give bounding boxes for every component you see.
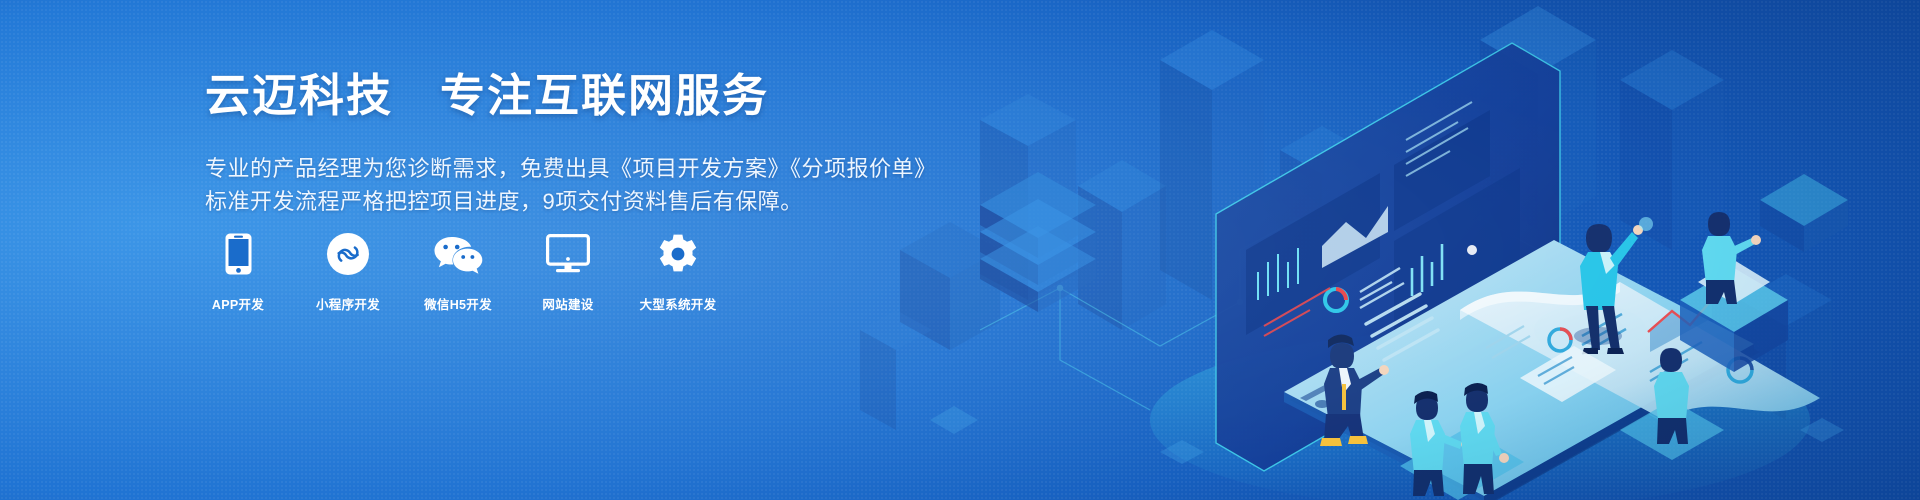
service-item-app[interactable]: APP开发: [203, 232, 273, 313]
service-label: 网站建设: [542, 294, 593, 313]
banner-subtitle: 专业的产品经理为您诊断需求，免费出具《项目开发方案》《分项报价单》 标准开发流程…: [205, 152, 925, 218]
hero-banner: 云迈科技 专注互联网服务 专业的产品经理为您诊断需求，免费出具《项目开发方案》《…: [0, 0, 1920, 500]
service-label: 小程序开发: [316, 294, 380, 313]
subtitle-line-1: 专业的产品经理为您诊断需求，免费出具《项目开发方案》《分项报价单》: [205, 152, 925, 185]
service-label: APP开发: [212, 294, 264, 313]
subtitle-line-2: 标准开发流程严格把控项目进度，9项交付资料售后有保障。: [205, 185, 925, 218]
service-item-website[interactable]: 网站建设: [533, 232, 603, 313]
monitor-icon: [546, 232, 590, 276]
mobile-phone-icon: [225, 232, 252, 276]
isometric-tech-illustration: [860, 0, 1920, 500]
service-item-wechat-h5[interactable]: 微信H5开发: [423, 232, 493, 313]
gear-icon: [657, 232, 699, 276]
headline-brand: 云迈科技: [205, 70, 393, 121]
service-label: 大型系统开发: [640, 294, 717, 313]
mini-program-icon: [327, 232, 369, 276]
service-item-miniprogram[interactable]: 小程序开发: [313, 232, 383, 313]
banner-copy: 云迈科技 专注互联网服务 专业的产品经理为您诊断需求，免费出具《项目开发方案》《…: [205, 70, 925, 218]
page-title: 云迈科技 专注互联网服务: [205, 70, 925, 122]
service-label: 微信H5开发: [424, 294, 492, 313]
wechat-icon: [433, 232, 483, 276]
service-item-large-system[interactable]: 大型系统开发: [643, 232, 713, 313]
headline-tagline: 专注互联网服务: [440, 70, 769, 121]
service-list: APP开发 小程序开发: [203, 232, 713, 313]
